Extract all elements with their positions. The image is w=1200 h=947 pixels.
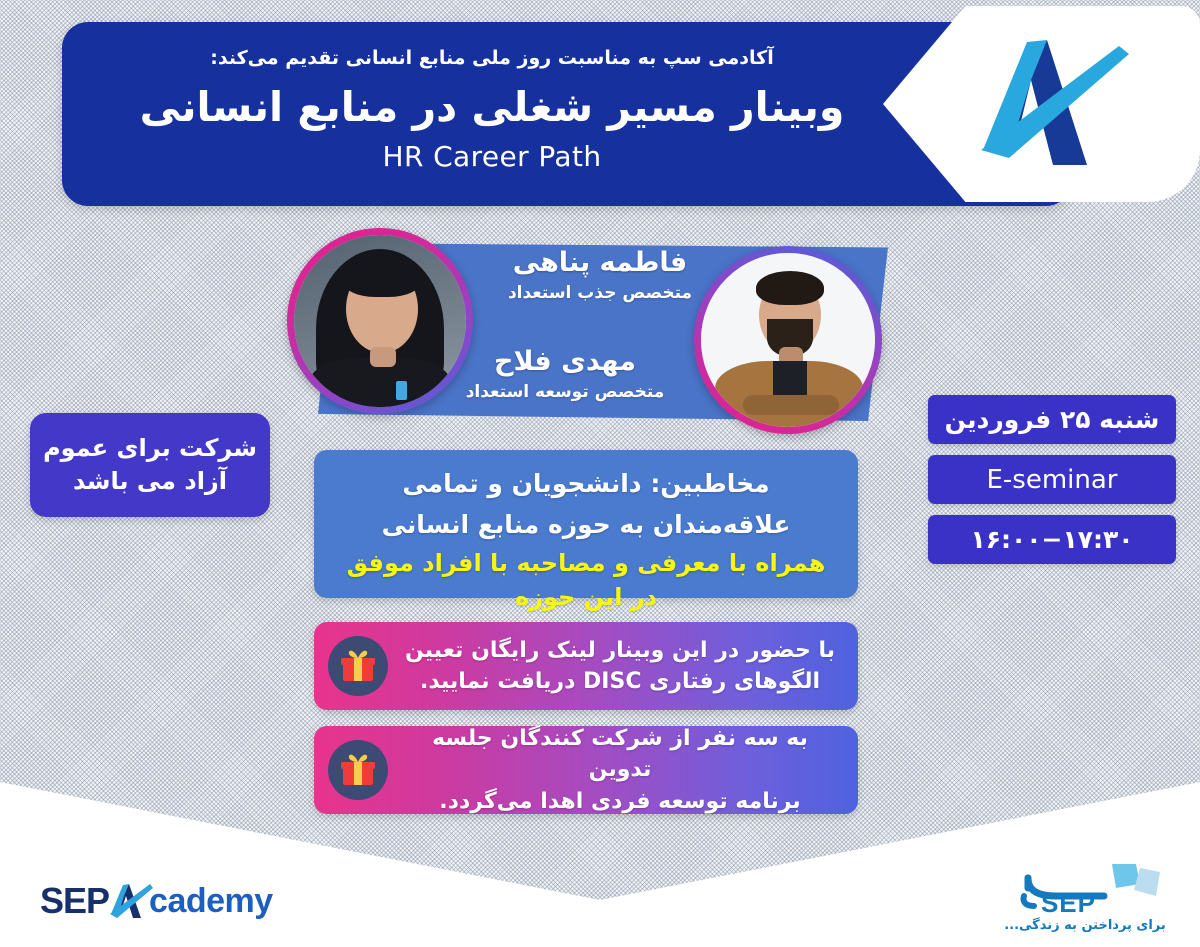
- free-badge-line-1: شرکت برای عموم: [43, 432, 257, 465]
- banner-subtitle: HR Career Path: [383, 140, 602, 173]
- svg-text:SEP: SEP: [1041, 888, 1096, 916]
- banner-kicker: آکادمی سپ به مناسبت روز ملی منابع انسانی…: [210, 47, 773, 69]
- schedule-panel: شنبه ۲۵ فروردین E-seminar ۱۶:۰۰−۱۷:۳۰: [928, 395, 1176, 564]
- sep-academy-logo-sep: SEP: [40, 880, 109, 922]
- a-swoosh-icon: [107, 881, 153, 921]
- sep-academy-a-mark-icon: [969, 30, 1129, 180]
- schedule-date: شنبه ۲۵ فروردین: [928, 395, 1176, 444]
- sep-brand-mark: SEP: [1000, 862, 1170, 916]
- free-attendance-badge: شرکت برای عموم آزاد می باشد: [30, 413, 270, 517]
- gift-icon: [328, 636, 388, 696]
- sep-academy-logo: SEP cademy: [40, 880, 273, 922]
- header-banner-content: آکادمی سپ به مناسبت روز ملی منابع انسانی…: [62, 22, 922, 206]
- avatar-speaker-0: [287, 228, 473, 414]
- avatar-speaker-1: [694, 246, 882, 434]
- gift-icon: [328, 740, 388, 800]
- audience-box: مخاطبین: دانشجویان و تمامی علاقه‌مندان ب…: [314, 450, 858, 598]
- page-title: وبینار مسیر شغلی در منابع انسانی: [140, 83, 845, 131]
- schedule-format: E-seminar: [928, 455, 1176, 504]
- gift-offer-0: با حضور در این وبینار لینک رایگان تعیین …: [314, 622, 858, 710]
- sep-brand-logo: SEP برای پرداختن به زندگی...: [1000, 862, 1170, 933]
- sep-academy-logo-cademy: cademy: [149, 882, 273, 921]
- gift-line-1: با حضور در این وبینار لینک رایگان تعیین: [398, 635, 842, 666]
- webinar-poster: آکادمی سپ به مناسبت روز ملی منابع انسانی…: [0, 0, 1200, 947]
- gift-line-1: به سه نفر از شرکت کنندگان جلسه تدوین: [398, 723, 842, 785]
- sep-brand-tagline: برای پرداختن به زندگی...: [1000, 918, 1170, 933]
- speaker-photo: [701, 253, 875, 427]
- free-badge-line-2: آزاد می باشد: [73, 465, 227, 498]
- audience-line-1: مخاطبین: دانشجویان و تمامی: [332, 464, 840, 505]
- gift-line-2: برنامه توسعه فردی اهدا می‌گردد.: [398, 786, 842, 817]
- speaker-photo: [294, 235, 466, 407]
- gift-offer-1: به سه نفر از شرکت کنندگان جلسه تدوین برن…: [314, 726, 858, 814]
- audience-line-2: علاقه‌مندان به حوزه منابع انسانی: [332, 505, 840, 546]
- audience-highlight: همراه با معرفی و مصاحبه با افراد موفق در…: [332, 547, 840, 614]
- gift-offer-text: با حضور در این وبینار لینک رایگان تعیین …: [388, 635, 842, 697]
- schedule-time: ۱۶:۰۰−۱۷:۳۰: [928, 515, 1176, 564]
- gift-line-2: الگوهای رفتاری DISC دریافت نمایید.: [398, 666, 842, 697]
- gift-offer-text: به سه نفر از شرکت کنندگان جلسه تدوین برن…: [388, 723, 842, 817]
